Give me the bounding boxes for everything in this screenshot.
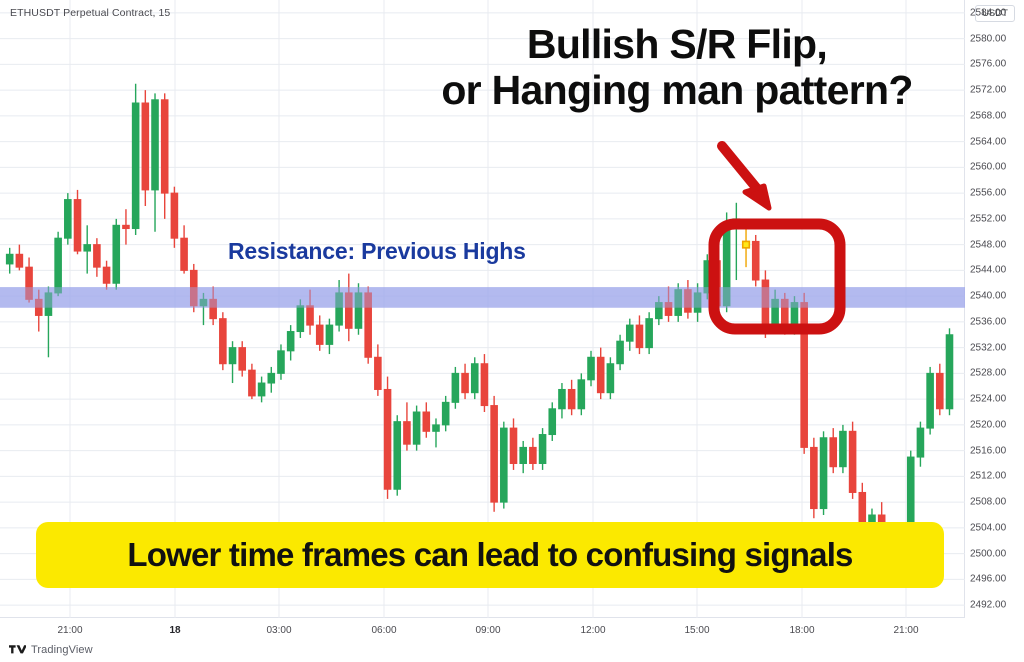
time-tick-label: 15:00 [684,625,709,636]
candle-body [559,389,566,408]
candle-body [161,100,168,193]
price-tick-label: 2580.00 [970,33,1024,44]
price-tick-label: 2516.00 [970,445,1024,456]
time-tick-label: 21:00 [57,625,82,636]
resistance-label: Resistance: Previous Highs [228,238,526,265]
candle [239,341,246,376]
candle [6,248,13,274]
candle-body [152,100,159,190]
candle [510,418,517,470]
symbol-legend[interactable]: ETHUSDT Perpetual Contract, 15 [10,7,170,19]
candle [452,367,459,409]
price-tick-label: 2532.00 [970,342,1024,353]
price-tick-label: 2568.00 [970,110,1024,121]
candle-body [278,351,285,374]
candle [539,428,546,470]
time-tick-label: 18:00 [789,625,814,636]
candle-body [617,341,624,364]
candle-body [74,200,81,252]
candle [617,335,624,370]
candle-body [326,325,333,344]
candle-body [752,241,759,280]
candle [113,219,120,290]
candle-body [743,241,750,247]
candle-body [249,370,256,396]
price-tick-label: 2500.00 [970,548,1024,559]
candle [481,354,488,412]
candle [161,93,168,219]
candle-body [539,435,546,464]
candle [530,438,537,470]
candle [501,422,508,509]
candle-body [413,412,420,444]
candle [626,319,633,351]
candle [471,357,478,399]
candle-body [530,447,537,463]
candle [258,377,265,403]
candle [94,238,101,277]
candle-body [423,412,430,431]
banner-text: Lower time frames can lead to confusing … [127,536,852,574]
candle [462,364,469,399]
candle [442,396,449,431]
candle-body [220,319,227,364]
candle-body [433,425,440,431]
candles [6,84,952,580]
candle-body [229,348,236,364]
candle [103,261,110,290]
price-tick-label: 2564.00 [970,136,1024,147]
candle [607,357,614,399]
candle-body [607,364,614,393]
candle-body [103,267,110,283]
time-tick-label: 21:00 [893,625,918,636]
time-tick-label: 06:00 [371,625,396,636]
candle [937,364,944,416]
headline-line-1: Bullish S/R Flip, [392,22,962,68]
price-axis[interactable]: USDT 2584.002580.002576.002572.002568.00… [965,0,1024,618]
candle [646,312,653,354]
candle-body [94,245,101,268]
candle-body [84,245,91,251]
candle [917,422,924,467]
candle-body [626,325,633,341]
candle-body [597,357,604,392]
price-tick-label: 2508.00 [970,497,1024,508]
candle-body [404,422,411,445]
candle [316,315,323,350]
candle [142,90,149,206]
candle-body [452,373,459,402]
candle-body [588,357,595,380]
candle [423,402,430,437]
price-tick-label: 2524.00 [970,394,1024,405]
price-tick-label: 2492.00 [970,600,1024,611]
candle [152,93,159,231]
price-tick-label: 2548.00 [970,239,1024,250]
price-tick-label: 2544.00 [970,265,1024,276]
candle [597,348,604,400]
price-tick-label: 2540.00 [970,291,1024,302]
price-tick-label: 2496.00 [970,574,1024,585]
candle [743,229,750,268]
candle-body [927,373,934,428]
candle [384,377,391,499]
candle [123,209,130,244]
tradingview-logo-icon [9,645,26,656]
candle [840,425,847,473]
candle-body [471,364,478,393]
candle-body [462,373,469,392]
candle-body [501,428,508,502]
candle-body [142,103,149,190]
candle-body [123,225,130,228]
candle-body [733,219,740,222]
price-tick-label: 2556.00 [970,188,1024,199]
candle [249,364,256,399]
price-tick-label: 2560.00 [970,162,1024,173]
price-tick-label: 2572.00 [970,85,1024,96]
candle [229,341,236,383]
candle [811,438,818,518]
candle [491,396,498,512]
candle [394,415,401,495]
candle [375,344,382,396]
candle-body [520,447,527,463]
time-tick-label: 09:00 [475,625,500,636]
candle-body [549,409,556,435]
candle [927,367,934,435]
candle [433,418,440,447]
headline-line-2: or Hanging man pattern? [392,68,962,114]
candle-body [171,193,178,238]
trading-chart-screenshot: ETHUSDT Perpetual Contract, 15 USDT 2584… [0,0,1024,662]
price-tick-label: 2584.00 [970,7,1024,18]
price-tick-label: 2536.00 [970,316,1024,327]
resistance-zone-overlay [0,287,965,308]
candle-body [287,332,294,351]
candle-body [917,428,924,457]
headline-annotation: Bullish S/R Flip, or Hanging man pattern… [392,22,962,114]
candle-body [578,380,585,409]
candle-body [491,406,498,503]
price-tick-label: 2520.00 [970,419,1024,430]
candle [578,373,585,415]
candle-body [849,431,856,492]
candle-body [239,348,246,371]
candle [65,193,72,245]
candle [849,422,856,499]
price-tick-label: 2512.00 [970,471,1024,482]
candle-body [394,422,401,490]
candle-body [181,238,188,270]
candle [801,293,808,454]
candle [16,245,23,271]
candle-body [937,373,944,408]
candle-body [6,254,13,264]
candle-body [65,200,72,239]
candle [830,428,837,473]
candle-body [830,438,837,467]
candle [549,402,556,441]
candle [752,235,759,287]
time-tick-label: 03:00 [266,625,291,636]
candle [220,312,227,370]
candle [74,190,81,254]
tradingview-branding: TradingView [9,644,93,656]
candle-body [442,402,449,425]
candle-body [646,319,653,348]
candle-body [297,306,304,332]
candle [181,225,188,273]
time-axis[interactable]: 21:001803:0006:0009:0012:0015:0018:0021:… [0,618,965,644]
candle-body [375,357,382,389]
candle-body [820,438,827,509]
candle [268,367,275,393]
bottom-banner: Lower time frames can lead to confusing … [36,522,944,588]
candle [559,383,566,418]
tradingview-label: TradingView [31,644,93,656]
candle-body [113,225,120,283]
candle-body [316,325,323,344]
candle-body [16,254,23,267]
candle [568,380,575,415]
price-tick-label: 2576.00 [970,59,1024,70]
candle-body [258,383,265,396]
candle [404,402,411,450]
price-tick-label: 2504.00 [970,522,1024,533]
candle [733,203,740,280]
candle-body [840,431,847,466]
candle [55,232,62,296]
candle [287,325,294,360]
candle [171,187,178,248]
candle-body [801,303,808,448]
candle-body [55,238,62,293]
candle [946,328,953,415]
candle [520,441,527,473]
price-tick-label: 2528.00 [970,368,1024,379]
candle-body [132,103,139,229]
time-tick-label: 18 [169,625,180,636]
candle [84,225,91,273]
candle-body [268,373,275,383]
candle-body [568,389,575,408]
candle-body [510,428,517,463]
candle [636,315,643,354]
candle [413,406,420,451]
time-tick-label: 12:00 [580,625,605,636]
price-tick-label: 2552.00 [970,213,1024,224]
candle-body [946,335,953,409]
candle-body [384,389,391,489]
candle-body [811,447,818,508]
candle-body [636,325,643,348]
candle [326,319,333,354]
candle-body [307,306,314,325]
candle [820,431,827,515]
candle-body [481,364,488,406]
candle [132,84,139,235]
